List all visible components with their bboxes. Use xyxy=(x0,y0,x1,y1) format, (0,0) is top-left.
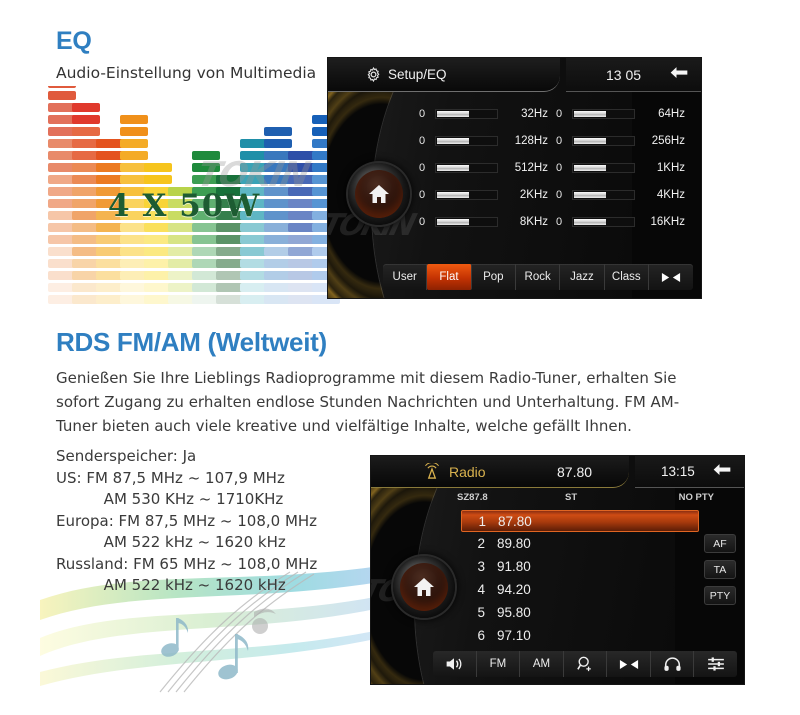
radio-head-unit-screen: TOKIN Radio 87.80 13:15 xyxy=(370,455,745,685)
radio-toolbar: FMAM xyxy=(433,651,737,677)
home-button-radio[interactable] xyxy=(393,556,455,618)
eq-band: 0512Hz xyxy=(413,162,550,174)
radio-preset-number: 5 xyxy=(467,605,485,620)
eq-band-value: 0 xyxy=(550,189,568,201)
pty-indicator: NO PTY xyxy=(679,492,714,503)
radio-preset-item[interactable]: 697.10 xyxy=(467,624,607,647)
radio-preset-number: 4 xyxy=(467,582,485,597)
eq-band-slider-fill xyxy=(574,219,606,225)
radio-band-am[interactable]: AM xyxy=(520,651,564,677)
eq-band: 0128Hz xyxy=(413,135,550,147)
radio-button-pty[interactable]: PTY xyxy=(704,586,736,605)
eq-band-slider-fill xyxy=(437,111,469,117)
radio-preset-item[interactable]: 187.80 xyxy=(461,510,699,532)
eq-band-label: 16KHz xyxy=(635,216,687,228)
radio-preset-frequency: 95.80 xyxy=(485,605,531,620)
eq-band-slider[interactable] xyxy=(572,136,635,146)
radio-preset-number: 6 xyxy=(467,628,485,643)
eq-graphic-cell xyxy=(264,139,292,148)
eq-band-label: 32Hz xyxy=(498,108,550,120)
eq-preset-user[interactable]: User xyxy=(383,264,427,290)
radio-preset-frequency: 87.80 xyxy=(486,514,532,529)
eq-band-slider[interactable] xyxy=(572,163,635,173)
eq-band-slider[interactable] xyxy=(572,190,635,200)
eq-band: 016KHz xyxy=(550,216,687,228)
eq-graphic-cell xyxy=(48,91,76,100)
radio-preset-list: 187.80289.80391.80494.20595.80697.10 xyxy=(467,510,607,647)
eq-band-slider-fill xyxy=(574,138,606,144)
eq-band-row: 0128Hz0256Hz xyxy=(413,127,701,154)
radio-button-ta[interactable]: TA xyxy=(704,560,736,579)
radio-button-af[interactable]: AF xyxy=(704,534,736,553)
eq-band-value: 0 xyxy=(413,108,431,120)
eq-band-slider[interactable] xyxy=(435,190,498,200)
radio-current-frequency: 87.80 xyxy=(557,464,592,480)
radio-preset-frequency: 97.10 xyxy=(485,628,531,643)
eq-head-unit-screen: TOKIN Setup/EQ 13 05 032Hz0 xyxy=(327,57,702,299)
eq-band-slider[interactable] xyxy=(435,136,498,146)
home-icon xyxy=(413,577,435,597)
eq-graphic-cell xyxy=(48,86,76,88)
radio-top-bar: Radio 87.80 13:15 xyxy=(371,456,744,488)
eq-band-slider[interactable] xyxy=(572,217,635,227)
eq-band-label: 256Hz xyxy=(635,135,687,147)
eq-band-value: 0 xyxy=(550,135,568,147)
radio-preset-item[interactable]: 289.80 xyxy=(467,532,607,555)
power-rating-caption: 4 X 50W xyxy=(108,188,260,224)
equalizer-icon[interactable] xyxy=(694,651,737,677)
radio-preset-item[interactable]: 391.80 xyxy=(467,555,607,578)
eq-band-value: 0 xyxy=(413,162,431,174)
eq-band-value: 0 xyxy=(550,162,568,174)
radio-band-fm[interactable]: FM xyxy=(477,651,521,677)
eq-preset-class[interactable]: Class xyxy=(605,264,649,290)
eq-band-list: 032Hz064Hz0128Hz0256Hz0512Hz01KHz02KHz04… xyxy=(413,100,701,235)
radio-preset-item[interactable]: 494.20 xyxy=(467,578,607,601)
eq-preset-pop[interactable]: Pop xyxy=(472,264,516,290)
eq-band-slider[interactable] xyxy=(572,109,635,119)
eq-band-label: 512Hz xyxy=(498,162,550,174)
eq-subtitle: Audio-Einstellung von Multimedia xyxy=(56,62,316,84)
eq-band-slider-fill xyxy=(437,219,469,225)
eq-band: 02KHz xyxy=(413,189,550,201)
eq-band-value: 0 xyxy=(550,216,568,228)
eq-band-value: 0 xyxy=(413,135,431,147)
back-arrow-icon[interactable] xyxy=(712,462,732,483)
eq-band-slider-fill xyxy=(437,192,469,198)
eq-band: 064Hz xyxy=(550,108,687,120)
eq-graphic-cell xyxy=(120,151,148,160)
home-button-eq[interactable] xyxy=(348,163,410,225)
eq-clock: 13 05 xyxy=(606,67,641,83)
speaker-icon[interactable] xyxy=(433,651,477,677)
eq-band-slider[interactable] xyxy=(435,217,498,227)
eq-screen-title: Setup/EQ xyxy=(388,67,447,82)
eq-band-row: 08KHz016KHz xyxy=(413,208,701,235)
eq-band-row: 032Hz064Hz xyxy=(413,100,701,127)
radio-info-row: SZ87.8 ST NO PTY xyxy=(457,492,736,506)
eq-band: 04KHz xyxy=(550,189,687,201)
radio-preset-number: 1 xyxy=(468,514,486,529)
search-plus-icon[interactable] xyxy=(564,651,608,677)
frequency-specs: Senderspeicher: Ja US: FM 87,5 MHz ~ 107… xyxy=(56,446,386,597)
eq-preset-rock[interactable]: Rock xyxy=(516,264,560,290)
eq-graphic-cell xyxy=(72,103,100,112)
eq-band-label: 1KHz xyxy=(635,162,687,174)
eq-band-slider[interactable] xyxy=(435,109,498,119)
eq-band-label: 4KHz xyxy=(635,189,687,201)
balance-icon[interactable] xyxy=(649,264,693,290)
rds-paragraph: Genießen Sie Ihre Lieblings Radioprogram… xyxy=(56,366,716,438)
eq-band-slider[interactable] xyxy=(435,163,498,173)
eq-band: 01KHz xyxy=(550,162,687,174)
stereo-indicator: ST xyxy=(565,492,577,503)
page-title-eq: EQ xyxy=(56,27,92,56)
radio-preset-frequency: 91.80 xyxy=(485,559,531,574)
eq-graphic-cell xyxy=(120,127,148,136)
station-name: SZ87.8 xyxy=(457,492,488,503)
eq-band-value: 0 xyxy=(550,108,568,120)
balance-icon[interactable] xyxy=(607,651,651,677)
page-root: EQ Audio-Einstellung von Multimedia TOKI… xyxy=(0,0,800,715)
eq-band: 0256Hz xyxy=(550,135,687,147)
eq-band-value: 0 xyxy=(413,189,431,201)
eq-graphic-cell xyxy=(120,139,148,148)
eq-band-slider-fill xyxy=(574,192,606,198)
eq-graphic-cell xyxy=(72,115,100,124)
radio-preset-number: 3 xyxy=(467,559,485,574)
eq-band-slider-fill xyxy=(437,165,469,171)
eq-band-slider-fill xyxy=(574,111,606,117)
eq-band-row: 02KHz04KHz xyxy=(413,181,701,208)
eq-graphic-cell xyxy=(72,127,100,136)
eq-band-label: 8KHz xyxy=(498,216,550,228)
radio-preset-item[interactable]: 595.80 xyxy=(467,601,607,624)
page-title-rds: RDS FM/AM (Weltweit) xyxy=(56,327,327,358)
radio-clock: 13:15 xyxy=(661,464,695,479)
gear-icon[interactable] xyxy=(366,67,381,87)
eq-band-value: 0 xyxy=(413,216,431,228)
radio-preset-frequency: 94.20 xyxy=(485,582,531,597)
back-arrow-icon[interactable] xyxy=(669,65,689,86)
eq-preset-jazz[interactable]: Jazz xyxy=(560,264,604,290)
eq-top-bar: Setup/EQ 13 05 xyxy=(328,58,701,92)
eq-band-label: 2KHz xyxy=(498,189,550,201)
radio-screen-title: Radio xyxy=(449,464,486,480)
eq-band-slider-fill xyxy=(574,165,606,171)
eq-graphic-cell xyxy=(144,163,172,172)
eq-preset-bar: UserFlatPopRockJazzClass xyxy=(383,264,693,290)
eq-band-label: 128Hz xyxy=(498,135,550,147)
eq-band: 08KHz xyxy=(413,216,550,228)
home-icon xyxy=(368,184,390,204)
eq-band: 032Hz xyxy=(413,108,550,120)
radio-preset-frequency: 89.80 xyxy=(485,536,531,551)
eq-band-slider-fill xyxy=(437,138,469,144)
eq-preset-flat[interactable]: Flat xyxy=(427,264,471,290)
antenna-icon xyxy=(423,463,441,485)
eq-band-row: 0512Hz01KHz xyxy=(413,154,701,181)
headphones-icon[interactable] xyxy=(651,651,695,677)
radio-preset-number: 2 xyxy=(467,536,485,551)
eq-graphic-cell xyxy=(120,115,148,124)
eq-graphic-cell xyxy=(264,127,292,136)
eq-band-label: 64Hz xyxy=(635,108,687,120)
eq-graphic-cell xyxy=(144,175,172,184)
